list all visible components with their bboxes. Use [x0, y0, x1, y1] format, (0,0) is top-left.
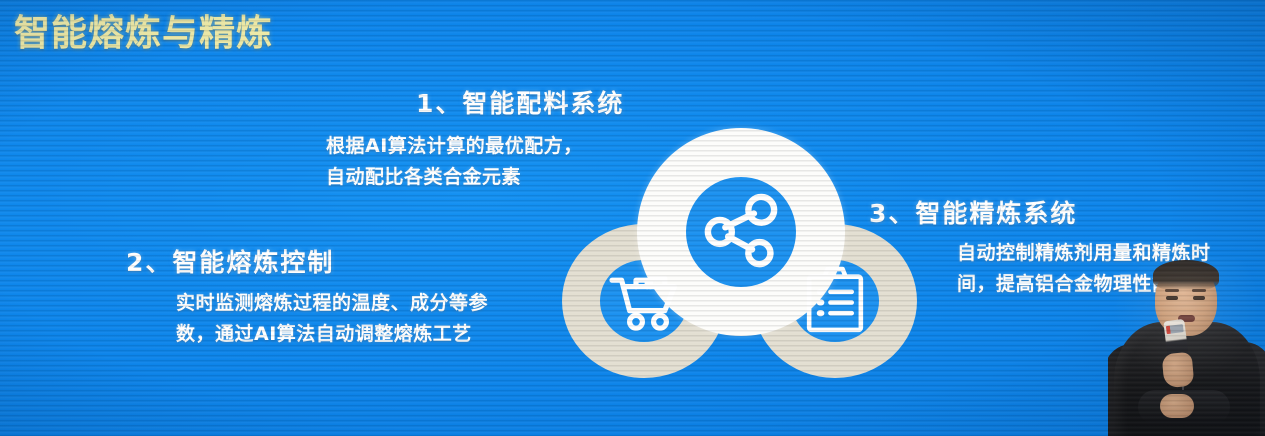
section-2-body-line-2: 数，通过AI算法自动调整熔炼工艺: [176, 319, 488, 350]
section-1-body-line-2: 自动配比各类合金元素: [326, 162, 583, 193]
presenter-other-hand: [1160, 394, 1194, 418]
section-3-heading: 3、智能精炼系统: [869, 194, 1077, 230]
section-2-body-line-1: 实时监测熔炼过程的温度、成分等参: [176, 288, 488, 319]
presentation-screenshot: 智能熔炼与精炼 1、智能配料系统 根据AI算法计算的最优配方， 自动配比各类合金…: [0, 0, 1265, 436]
section-2-body: 实时监测熔炼过程的温度、成分等参 数，通过AI算法自动调整熔炼工艺: [176, 288, 488, 350]
section-1-body: 根据AI算法计算的最优配方， 自动配比各类合金元素: [326, 131, 583, 193]
presenter-hair: [1153, 260, 1219, 290]
presenter: [1108, 258, 1265, 436]
presenter-hand-holding-mic: [1162, 352, 1195, 388]
section-2-heading: 2、智能熔炼控制: [126, 243, 334, 279]
presenter-left-eyebrow: [1165, 289, 1179, 292]
section-1-heading: 1、智能配料系统: [416, 84, 624, 120]
presenter-right-eye: [1193, 296, 1205, 300]
presenter-left-eye: [1166, 296, 1178, 300]
section-1-body-line-1: 根据AI算法计算的最优配方，: [326, 131, 583, 162]
microphone-flag-label: [1166, 324, 1184, 334]
presenter-right-eyebrow: [1192, 289, 1206, 292]
page-title: 智能熔炼与精炼: [14, 4, 273, 56]
